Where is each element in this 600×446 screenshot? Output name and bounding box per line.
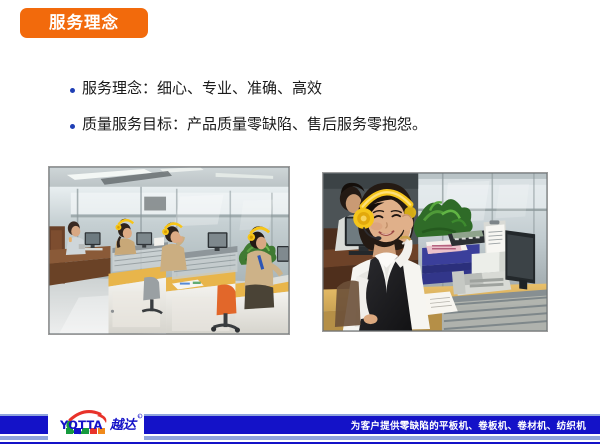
customer-service-agent-illustration [323,173,547,331]
list-item: 服务理念：细心、专业、准确、高效 [70,79,570,115]
bullet-list: 服务理念：细心、专业、准确、高效 质量服务目标：产品质量零缺陷、售后服务零抱怨。 [70,79,570,151]
customer-service-agent-photo [322,172,548,332]
footer-tagline-container: 为客户提供零缺陷的平板机、卷板机、卷材机、纺织机 [0,416,600,434]
list-item: 质量服务目标：产品质量零缺陷、售后服务零抱怨。 [70,115,570,151]
footer-accent-line-bottom [0,442,600,444]
page-title-badge: 服务理念 [20,8,148,38]
bullet-dot-icon [70,88,75,93]
bullet-dot-icon [70,124,75,129]
office-call-center-photo [48,166,290,335]
footer-bar: 为客户提供零缺陷的平板机、卷板机、卷材机、纺织机 [0,414,600,446]
footer-tagline: 为客户提供零缺陷的平板机、卷板机、卷材机、纺织机 [351,418,586,432]
list-item-label: 质量服务目标：产品质量零缺陷、售后服务零抱怨。 [82,115,427,134]
page-title: 服务理念 [49,15,119,32]
slide-canvas: 服务理念 服务理念：细心、专业、准确、高效 质量服务目标：产品质量零缺陷、售后服… [0,0,600,446]
office-call-center-illustration [49,167,289,334]
list-item-label: 服务理念：细心、专业、准确、高效 [82,79,322,98]
